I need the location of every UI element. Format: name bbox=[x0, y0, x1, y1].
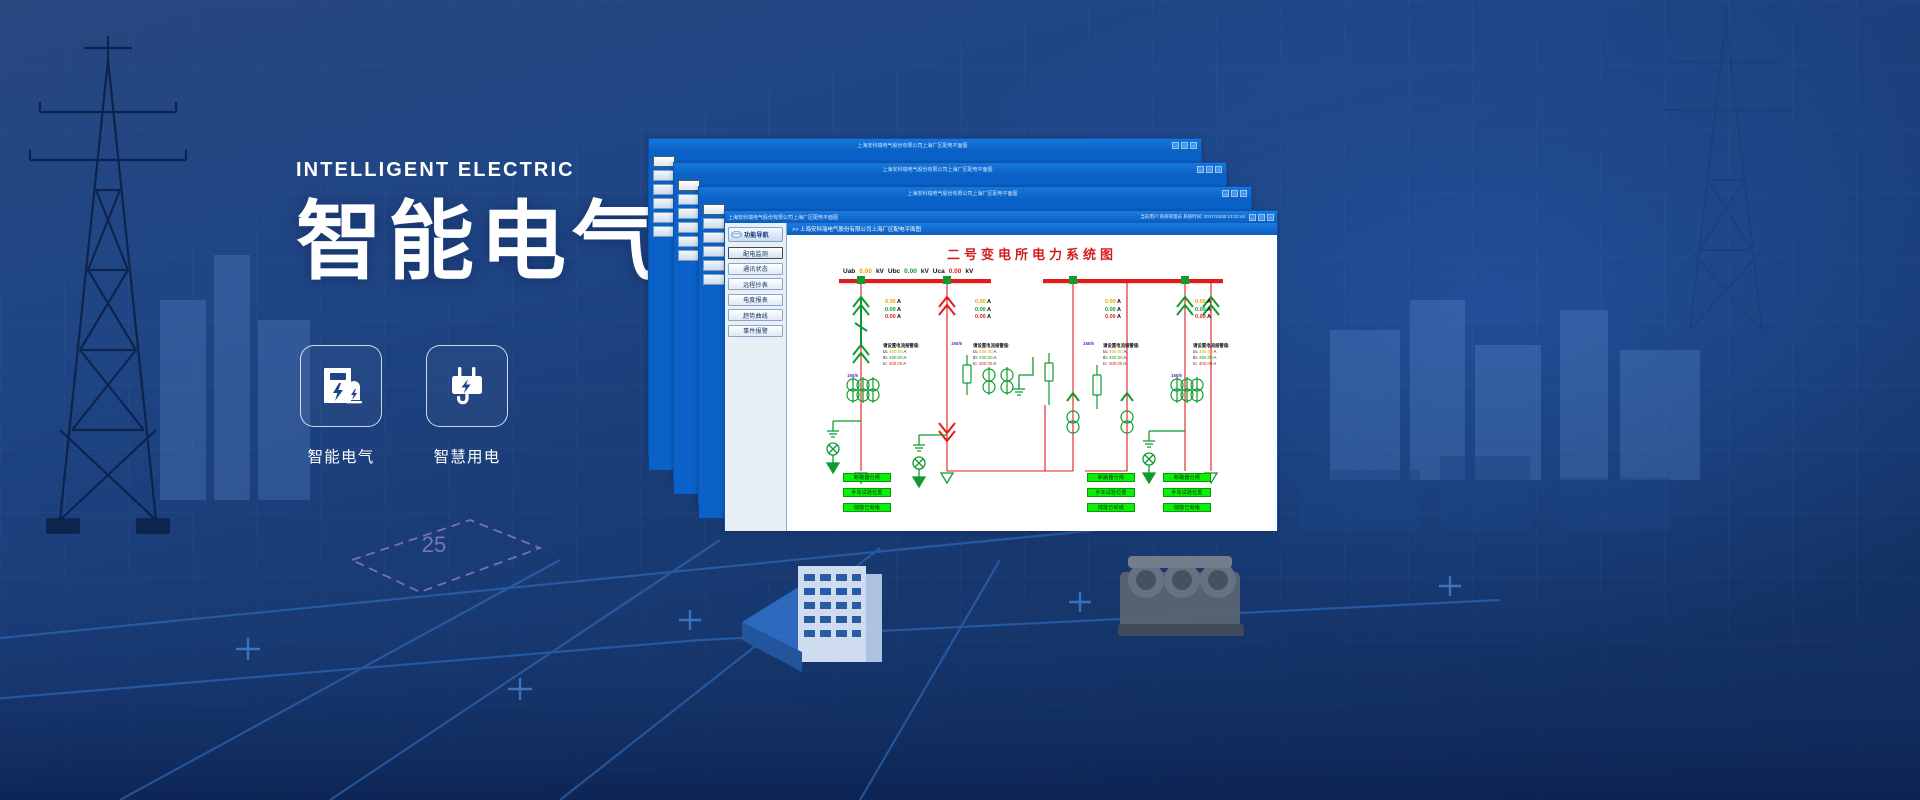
current-unit: A bbox=[897, 299, 901, 305]
content-area: >> 上海安科瑞电气股份有限公司上海厂区配电平面图 二号变电所电力系统图 Uab… bbox=[787, 223, 1277, 531]
minimize-icon[interactable]: — bbox=[1172, 142, 1179, 149]
alarm-phase: Ic: bbox=[1103, 361, 1108, 366]
status-button-truck-test-position[interactable]: 手车试验位置 bbox=[843, 488, 891, 497]
status-button-energy-ready[interactable]: 储能已就绪 bbox=[1163, 503, 1211, 512]
current-value: 0.00 bbox=[885, 299, 896, 305]
nav-item-event-alarm[interactable]: 事件报警 bbox=[728, 325, 783, 337]
rail-button[interactable] bbox=[678, 236, 700, 247]
status-button-breaker-open[interactable]: 断路器分闸 bbox=[1163, 473, 1211, 482]
window-titlebar[interactable]: 上海安科瑞电气股份有限公司上海厂区配电平面图 — □ × bbox=[649, 139, 1201, 152]
current-value: 0.00 bbox=[885, 314, 896, 320]
current-unit: A bbox=[1117, 299, 1121, 305]
nav-item-label: 远程抄表 bbox=[743, 280, 768, 289]
maximize-icon[interactable]: □ bbox=[1181, 142, 1188, 149]
minimize-icon[interactable]: — bbox=[1249, 214, 1256, 221]
alarm-value: 400.00 bbox=[1199, 349, 1212, 354]
maximize-icon[interactable]: □ bbox=[1258, 214, 1265, 221]
close-icon[interactable]: × bbox=[1267, 214, 1274, 221]
alarm-value: 400.00 bbox=[979, 355, 992, 360]
ct-ratio-4: 150/5 bbox=[1171, 373, 1182, 378]
alarm-settings-4: 请设置电流报警值: Ia: 400.00 A Ib: 400.00 A Ic: … bbox=[1193, 343, 1230, 367]
navigation-panel: 功能导航 配电监测 通讯状态 远程抄表 电度报表 趋势曲线 事 bbox=[725, 223, 787, 531]
alarm-phase: Ib: bbox=[973, 355, 978, 360]
alarm-value: 400.00 bbox=[1109, 349, 1122, 354]
current-value: 0.00 bbox=[975, 314, 986, 320]
alarm-unit: A bbox=[993, 361, 996, 366]
minimize-icon[interactable]: — bbox=[1222, 190, 1229, 197]
alarm-phase: Ia: bbox=[1103, 349, 1108, 354]
alarm-unit: A bbox=[1124, 349, 1127, 354]
window-controls[interactable]: — □ × bbox=[1172, 142, 1197, 149]
current-unit: A bbox=[1207, 314, 1211, 320]
nav-header: 功能导航 bbox=[728, 227, 783, 242]
feeder-currents-1: 0.00 A 0.00 A 0.00 A bbox=[885, 299, 901, 322]
rail-button[interactable] bbox=[703, 218, 725, 229]
current-value: 0.00 bbox=[975, 299, 986, 305]
rail-button[interactable] bbox=[678, 222, 700, 233]
feature-icon-box bbox=[426, 345, 508, 427]
rail-button[interactable] bbox=[703, 246, 725, 257]
feature-item-smart-power[interactable]: 智慧用电 bbox=[426, 345, 508, 467]
svg-text:25: 25 bbox=[422, 532, 446, 557]
window-stack: 上海安科瑞电气股份有限公司上海厂区配电平面图 — □ × 上海安科瑞电气股份有限… bbox=[648, 138, 1288, 538]
alarm-value: 400.00 bbox=[979, 349, 992, 354]
rail-button[interactable] bbox=[653, 156, 675, 167]
nav-item-energy-report[interactable]: 电度报表 bbox=[728, 294, 783, 306]
feature-icon-box bbox=[300, 345, 382, 427]
power-plug-icon bbox=[445, 364, 489, 408]
window-title: 上海安科瑞电气股份有限公司上海厂区配电平面图 bbox=[678, 166, 1197, 173]
current-unit: A bbox=[987, 299, 991, 305]
window-title: 上海安科瑞电气股份有限公司上海厂区配电平面图 bbox=[703, 190, 1222, 197]
rail-button[interactable] bbox=[703, 204, 725, 215]
alarm-phase: Ia: bbox=[883, 349, 888, 354]
current-value: 0.00 bbox=[1105, 314, 1116, 320]
window-rail bbox=[703, 204, 725, 288]
alarm-phase: Ia: bbox=[973, 349, 978, 354]
ct-ratio-2: 150/5 bbox=[951, 341, 962, 346]
alarm-unit: A bbox=[904, 355, 907, 360]
feature-item-intelligent-electric[interactable]: 智能电气 bbox=[300, 345, 382, 467]
rail-button[interactable] bbox=[653, 170, 675, 181]
alarm-unit: A bbox=[1124, 355, 1127, 360]
window-controls[interactable]: — □ × bbox=[1197, 166, 1222, 173]
alarm-settings-1: 请设置电流报警值: Ia: 400.00 A Ib: 400.00 A Ic: … bbox=[883, 343, 920, 367]
rail-button[interactable] bbox=[653, 226, 675, 237]
window-rail bbox=[653, 156, 675, 240]
single-line-diagram bbox=[787, 235, 1279, 531]
rail-button[interactable] bbox=[703, 274, 725, 285]
nav-item-trend-curve[interactable]: 趋势曲线 bbox=[728, 309, 783, 321]
alarm-unit: A bbox=[904, 349, 907, 354]
window-controls[interactable]: — □ × bbox=[1249, 214, 1274, 221]
rail-button[interactable] bbox=[678, 250, 700, 261]
rail-button[interactable] bbox=[703, 232, 725, 243]
current-value: 0.00 bbox=[975, 307, 986, 313]
nav-item-label: 事件报警 bbox=[743, 326, 768, 335]
maximize-icon[interactable]: □ bbox=[1231, 190, 1238, 197]
nav-item-label: 通讯状态 bbox=[743, 264, 768, 273]
feeder-currents-3: 0.00 A 0.00 A 0.00 A bbox=[1105, 299, 1121, 322]
window-titlebar[interactable]: 上海安科瑞电气股份有限公司上海厂区配电平面图 — □ × bbox=[674, 163, 1226, 176]
current-value: 0.00 bbox=[1105, 307, 1116, 313]
alarm-value: 400.00 bbox=[1109, 355, 1122, 360]
status-button-energy-ready[interactable]: 储能已就绪 bbox=[843, 503, 891, 512]
ct-ratio-3: 150/5 bbox=[1083, 341, 1094, 346]
status-button-energy-ready[interactable]: 储能已就绪 bbox=[1087, 503, 1135, 512]
alarm-phase: Ia: bbox=[1193, 349, 1198, 354]
alarm-phase: Ic: bbox=[883, 361, 888, 366]
alarm-unit: A bbox=[994, 355, 997, 360]
alarm-phase: Ic: bbox=[973, 361, 978, 366]
rail-button[interactable] bbox=[678, 208, 700, 219]
alarm-phase: Ib: bbox=[883, 355, 888, 360]
window-controls[interactable]: — □ × bbox=[1222, 190, 1247, 197]
close-icon[interactable]: × bbox=[1215, 166, 1222, 173]
close-icon[interactable]: × bbox=[1190, 142, 1197, 149]
current-unit: A bbox=[987, 307, 991, 313]
alarm-value: 400.00 bbox=[1109, 361, 1122, 366]
feature-list: 智能电气 智慧用电 bbox=[300, 345, 508, 467]
rail-button[interactable] bbox=[678, 194, 700, 205]
alarm-phase: Ic: bbox=[1193, 361, 1198, 366]
feeder-currents-4: 0.00 A 0.00 A 0.00 A bbox=[1195, 299, 1211, 322]
minimize-icon[interactable]: — bbox=[1197, 166, 1204, 173]
close-icon[interactable]: × bbox=[1240, 190, 1247, 197]
current-unit: A bbox=[1117, 307, 1121, 313]
status-button-breaker-open[interactable]: 断路器分闸 bbox=[1087, 473, 1135, 482]
alarm-unit: A bbox=[1214, 349, 1217, 354]
navigation-book-icon bbox=[731, 230, 742, 239]
front-window-status: 当前用户:系统管理员 系统时间: 2017/12/30 13:22:44 bbox=[1140, 214, 1245, 220]
alarm-value: 400.00 bbox=[889, 349, 902, 354]
status-button-breaker-open[interactable]: 断路器分闸 bbox=[843, 473, 891, 482]
alarm-phase: Ib: bbox=[1193, 355, 1198, 360]
current-value: 0.00 bbox=[1105, 299, 1116, 305]
alarm-unit: A bbox=[903, 361, 906, 366]
window-titlebar[interactable]: 上海安科瑞电气股份有限公司上海厂区配电平面图 — □ × bbox=[699, 187, 1251, 200]
nav-item-power-monitoring[interactable]: 配电监测 bbox=[728, 247, 783, 259]
current-value: 0.00 bbox=[1195, 299, 1206, 305]
window-rail bbox=[678, 180, 700, 264]
nav-header-label: 功能导航 bbox=[744, 230, 769, 239]
breadcrumb: >> 上海安科瑞电气股份有限公司上海厂区配电平面图 bbox=[787, 223, 1277, 235]
front-window-titlebar[interactable]: 上海安科瑞电气股份有限公司上海厂区配电平面图 当前用户:系统管理员 系统时间: … bbox=[725, 211, 1277, 223]
alarm-unit: A bbox=[1214, 355, 1217, 360]
feature-label: 智慧用电 bbox=[434, 445, 501, 467]
nav-item-label: 配电监测 bbox=[743, 249, 768, 258]
alarm-phase: Ib: bbox=[1103, 355, 1108, 360]
rail-button[interactable] bbox=[678, 180, 700, 191]
rail-button[interactable] bbox=[703, 260, 725, 271]
alarm-value: 400.00 bbox=[889, 361, 902, 366]
alarm-unit: A bbox=[1123, 361, 1126, 366]
front-window-title: 上海安科瑞电气股份有限公司上海厂区配电平面图 bbox=[728, 214, 1140, 221]
nav-item-remote-reading[interactable]: 远程抄表 bbox=[728, 278, 783, 290]
nav-item-label: 电度报表 bbox=[743, 295, 768, 304]
current-value: 0.00 bbox=[1195, 314, 1206, 320]
current-value: 0.00 bbox=[885, 307, 896, 313]
sld-diagram: 二号变电所电力系统图 Uab 0.00 kV Ubc 0.00 kV Uca 0… bbox=[787, 235, 1277, 531]
current-unit: A bbox=[987, 314, 991, 320]
ct-ratio-1: 150/5 bbox=[847, 373, 858, 378]
current-unit: A bbox=[1207, 307, 1211, 313]
rail-button[interactable] bbox=[653, 212, 675, 223]
current-unit: A bbox=[1117, 314, 1121, 320]
current-value: 0.00 bbox=[1195, 307, 1206, 313]
status-button-truck-test-position[interactable]: 手车试验位置 bbox=[1087, 488, 1135, 497]
feeder-currents-2: 0.00 A 0.00 A 0.00 A bbox=[975, 299, 991, 322]
alarm-value: 400.00 bbox=[979, 361, 992, 366]
electric-meter-icon bbox=[319, 364, 363, 408]
current-unit: A bbox=[897, 314, 901, 320]
alarm-settings-2: 请设置电流报警值: Ia: 400.00 A Ib: 400.00 A Ic: … bbox=[973, 343, 1010, 367]
nav-item-comm-status[interactable]: 通讯状态 bbox=[728, 263, 783, 275]
current-unit: A bbox=[1207, 299, 1211, 305]
nav-item-label: 趋势曲线 bbox=[743, 311, 768, 320]
alarm-unit: A bbox=[1213, 361, 1216, 366]
front-window[interactable]: 上海安科瑞电气股份有限公司上海厂区配电平面图 当前用户:系统管理员 系统时间: … bbox=[724, 210, 1278, 530]
rail-button[interactable] bbox=[653, 184, 675, 195]
current-unit: A bbox=[897, 307, 901, 313]
window-title: 上海安科瑞电气股份有限公司上海厂区配电平面图 bbox=[653, 142, 1172, 149]
alarm-value: 400.00 bbox=[889, 355, 902, 360]
rail-button[interactable] bbox=[653, 198, 675, 209]
alarm-unit: A bbox=[994, 349, 997, 354]
feature-label: 智能电气 bbox=[308, 445, 375, 467]
maximize-icon[interactable]: □ bbox=[1206, 166, 1213, 173]
alarm-settings-3: 请设置电流报警值: Ia: 400.00 A Ib: 400.00 A Ic: … bbox=[1103, 343, 1140, 367]
alarm-value: 400.00 bbox=[1199, 355, 1212, 360]
status-button-truck-test-position[interactable]: 手车试验位置 bbox=[1163, 488, 1211, 497]
alarm-value: 400.00 bbox=[1199, 361, 1212, 366]
